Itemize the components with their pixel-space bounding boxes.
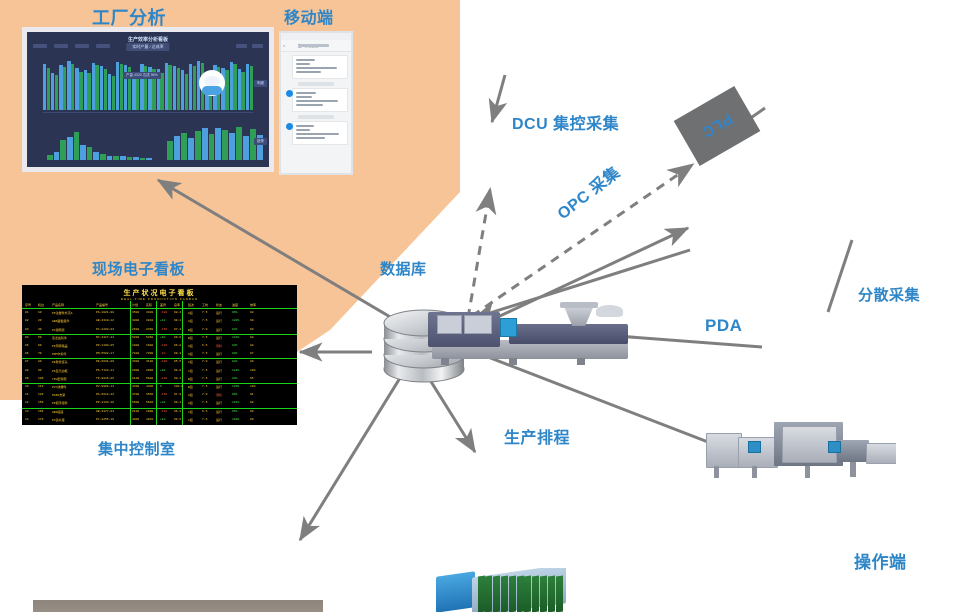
kanban-cell: 运行: [216, 377, 222, 381]
kanban-cell: 4800: [132, 418, 139, 421]
kanban-cell: 96.8: [174, 344, 181, 347]
kanban-header-cell: 机台: [38, 303, 44, 307]
kanban-cell: 12: [25, 401, 29, 404]
kanban-cell: 99: [250, 418, 254, 421]
kanban-cell: 11: [25, 393, 29, 396]
kanban-cell: 3120: [146, 360, 153, 363]
chart-bar: [108, 74, 111, 110]
chart-bar: [233, 64, 236, 110]
kanban-cell: 7.5: [202, 352, 207, 355]
kanban-cell: 7#: [38, 352, 42, 355]
badge-detail[interactable]: 明细: [254, 80, 267, 87]
kanban-grid-line: [22, 308, 297, 309]
dcu-device: [436, 568, 566, 612]
list-item[interactable]: [292, 55, 348, 79]
kanban-cell: 运行: [216, 401, 222, 405]
kanban-cell: 99%: [232, 352, 237, 355]
chart-bar: [215, 128, 221, 160]
chart-bar: [189, 64, 192, 110]
chart-bar: [181, 70, 184, 110]
kanban-cell: 94%: [232, 360, 237, 363]
kanban-cell: -120: [160, 344, 167, 347]
chart-bar: [100, 154, 106, 160]
kanban-cell: PS-7724-11: [96, 369, 114, 372]
kanban-cell: 7.0: [202, 328, 207, 331]
badge-trend[interactable]: 趋势: [254, 138, 267, 145]
label-central-control-room: 集中控制室: [98, 438, 176, 459]
kanban-cell: PA-1021-08: [96, 311, 114, 314]
kanban-cell: 运行: [216, 311, 222, 315]
avatar: [286, 123, 293, 130]
chart-bar: [112, 76, 115, 110]
kanban-cell: PC-2208-03: [96, 328, 114, 331]
dashboard-top-controls[interactable]: [33, 44, 110, 48]
chart-bar: [173, 66, 176, 110]
kanban-cell: PS显示边框: [52, 369, 68, 373]
chart-bar: [202, 128, 208, 160]
kanban-cell: NY-4417-21: [96, 336, 114, 339]
kanban-cell: 01: [25, 311, 29, 314]
kanban-cell: 12#: [38, 393, 43, 396]
mobile-header-title: 生产异常通知: [298, 43, 318, 48]
chart-bar: [165, 63, 168, 110]
chart-bar: [133, 157, 139, 160]
kanban-cell: +60: [160, 336, 165, 339]
kanban-cell: 17#: [38, 418, 43, 421]
label-distributed-collection: 分散采集: [858, 284, 920, 305]
kanban-cell: 96%: [232, 393, 237, 396]
chart-bar: [59, 65, 62, 110]
chart-bar: [92, 63, 95, 110]
chart-bar: [181, 133, 187, 160]
kanban-cell: PP-1190-05: [96, 344, 114, 347]
kanban-header-cell: 产品编号: [96, 303, 108, 307]
kanban-header-cell: 班次: [188, 303, 194, 307]
mobile-status-bar: [281, 33, 351, 40]
kanban-cell: 93%: [232, 344, 237, 347]
kanban-header-cell: 序号: [25, 303, 31, 307]
list-item[interactable]: [292, 121, 348, 145]
kanban-cell: 03: [25, 328, 29, 331]
chart-bar: [160, 73, 163, 110]
kanban-cell: 6100: [132, 377, 139, 380]
kanban-cell: +10: [160, 418, 165, 421]
kanban-cell: 100: [250, 369, 255, 372]
chart-bar: [174, 136, 180, 160]
dashboard-subtitle: 实时产量 / 达成率: [126, 43, 169, 51]
kanban-cell: -10: [160, 352, 165, 355]
kanban-header-cell: 良率: [174, 303, 180, 307]
kanban-header-cell: 计划: [132, 303, 138, 307]
kanban-cell: PA-6612-22: [96, 393, 114, 396]
avatar: [286, 90, 293, 97]
label-production-scheduling: 生产排程: [504, 424, 570, 448]
chart-bar: [167, 141, 173, 160]
kanban-cell: 100%: [232, 385, 239, 388]
chart-bar: [136, 74, 139, 110]
plc-label: PLC: [698, 110, 735, 141]
label-opc-collection: OPC 采集: [551, 159, 624, 224]
kanban-cell: 运行: [216, 319, 222, 323]
kanban-cell: PC镜片座: [52, 418, 65, 422]
kanban-cell: 7.0: [202, 360, 207, 363]
kanban-cell: 99: [250, 319, 254, 322]
injection-molding-machine-top: [424, 294, 636, 370]
kanban-cell: -150: [160, 393, 167, 396]
kanban-cell: 95.5: [174, 360, 181, 363]
kanban-cell: TP-8815-06: [96, 377, 114, 380]
chart-bar: [188, 138, 194, 160]
chart-bar: [80, 145, 86, 160]
kanban-cell: 7.5: [202, 311, 207, 314]
kanban-cell: 运行: [216, 418, 222, 422]
chart-bar: [127, 157, 133, 160]
kanban-cell: 99.4: [174, 401, 181, 404]
list-item[interactable]: [292, 88, 348, 112]
kanban-cell: 98: [250, 336, 254, 339]
kanban-cell: 9#: [38, 369, 42, 372]
kanban-cell: 05: [25, 344, 29, 347]
kanban-cell: C班: [188, 418, 193, 422]
kanban-cell: 100%: [232, 319, 239, 322]
kanban-header-cell: 差异: [160, 303, 166, 307]
chart-bar: [100, 66, 103, 110]
kanban-cell: 7390: [146, 352, 153, 355]
kanban-cell: +10: [160, 319, 165, 322]
dashboard-title: 生产效率分析看板: [128, 36, 168, 43]
chart-defect-reasons: [47, 124, 152, 160]
kanban-cell: 3550: [146, 393, 153, 396]
label-onsite-kanban: 现场电子看板: [92, 258, 185, 279]
arrow-db-to-control-room: [300, 378, 400, 540]
chart-axis-top: [43, 112, 253, 113]
label-database: 数据库: [380, 258, 427, 279]
chart-bar: [241, 72, 244, 110]
assembly-line-machine: [706, 416, 896, 478]
kanban-cell: 02: [25, 319, 29, 322]
kanban-grid-line: [130, 301, 131, 425]
kanban-cell: A班: [188, 311, 193, 315]
chart-bar: [67, 137, 73, 160]
kanban-cell: 94%: [232, 328, 237, 331]
kanban-cell: 运行: [216, 352, 222, 356]
kanban-cell: 6.5: [202, 410, 207, 413]
kanban-cell: 待料: [216, 344, 222, 348]
chart-bar: [47, 155, 53, 160]
chart-bar: [74, 132, 80, 160]
kanban-cell: 98: [250, 401, 254, 404]
kanban-cell: -120: [160, 377, 167, 380]
kanban-cell: 5980: [146, 377, 153, 380]
chart-bar: [107, 156, 113, 161]
chart-bar: [113, 156, 119, 160]
chart-bar: [51, 73, 54, 110]
kanban-header-cell: 实际: [146, 303, 152, 307]
kanban-cell: 100.0: [174, 385, 183, 388]
chart-bar: [243, 136, 249, 160]
label-pda: PDA: [705, 316, 742, 336]
mobile-client-panel[interactable]: < 生产异常通知: [279, 31, 353, 175]
dashboard-right-controls[interactable]: [236, 44, 263, 48]
kanban-cell: 4320: [146, 311, 153, 314]
chart-bar: [43, 64, 46, 110]
kanban-cell: 5600: [132, 401, 139, 404]
kanban-cell: -180: [160, 311, 167, 314]
kanban-cell: 5200: [132, 336, 139, 339]
kanban-cell: 99.5: [174, 418, 181, 421]
kanban-cell: PC透明罩: [52, 328, 65, 332]
chart-bar: [93, 152, 99, 160]
kanban-cell: 3700: [132, 393, 139, 396]
kanban-cell: A班: [188, 319, 193, 323]
kanban-cell: 97.4: [174, 328, 181, 331]
chart-bar: [84, 70, 87, 110]
onsite-kanban-board: 生产状况电子看板 REAL-TIME PRODUCTION KANBAN 序号机…: [22, 285, 297, 425]
kanban-cell: -180: [160, 360, 167, 363]
kanban-cell: 8#: [38, 360, 42, 363]
kanban-cell: 06: [25, 352, 29, 355]
kanban-cell: 7.5: [202, 336, 207, 339]
kanban-cell: 6#: [38, 344, 42, 347]
kanban-cell: TPU密封圈: [52, 377, 66, 381]
label-mobile-client: 移动端: [284, 4, 334, 28]
diagram-canvas: 生产效率分析看板 实时产量 / 达成率 产量 4320 达成 96% 明细 趋势…: [0, 0, 954, 612]
kanban-cell: A班: [188, 401, 193, 405]
kanban-cell: PC-2255-19: [96, 418, 114, 421]
kanban-cell: 100: [250, 385, 255, 388]
kanban-header-cell: 状态: [216, 303, 222, 307]
chart-bar: [146, 158, 152, 160]
kanban-cell: C班: [188, 410, 193, 414]
chart-bar: [168, 65, 171, 110]
kanban-cell: 运行: [216, 328, 222, 332]
kanban-cell: 2960: [146, 369, 153, 372]
kanban-cell: 04: [25, 336, 29, 339]
kanban-grid-line: [22, 358, 297, 359]
kanban-cell: 3300: [132, 360, 139, 363]
kanban-cell: 97.9: [174, 393, 181, 396]
kanban-cell: A班: [188, 393, 193, 397]
kanban-cell: 96%: [232, 311, 237, 314]
kanban-cell: ABS底座: [52, 410, 63, 414]
kanban-cell: +60: [160, 369, 165, 372]
kanban-cell: PVC线槽件: [52, 385, 66, 389]
kanban-cell: A班: [188, 352, 193, 356]
kanban-cell: 91: [250, 393, 254, 396]
label-dcu-collection: DCU 集控采集: [512, 110, 619, 134]
kanban-header-cell: 进度: [232, 303, 238, 307]
kanban-cell: B班: [188, 336, 193, 340]
chart-bar: [195, 131, 201, 160]
chart-bar: [54, 152, 60, 160]
mobile-separator: [298, 82, 334, 86]
kanban-cell: 4400: [132, 385, 139, 388]
kanban-cell: 调机: [216, 393, 222, 397]
kanban-cell: 运行: [216, 369, 222, 373]
kanban-cell: 3#: [38, 328, 42, 331]
kanban-cell: 7400: [132, 352, 139, 355]
mascot-icon: [199, 70, 225, 96]
chart-bar: [236, 127, 242, 160]
kanban-cell: 88: [250, 344, 254, 347]
kanban-cell: 99.0: [174, 369, 181, 372]
chart-bar: [60, 140, 66, 160]
kanban-cell: PP把手组件: [52, 401, 68, 405]
kanban-header-cell: 产品名称: [52, 303, 64, 307]
kanban-cell: 99.3: [174, 352, 181, 355]
kanban-cell: PE软管接头: [52, 360, 68, 364]
plc-box: PLC: [674, 86, 761, 166]
kanban-cell: 5640: [146, 401, 153, 404]
kanban-cell: 101%: [232, 401, 239, 404]
kanban-cell: POM卡扣件: [52, 352, 66, 356]
kanban-cell: 102%: [232, 369, 239, 372]
chart-bar: [120, 156, 126, 160]
chart-bar: [116, 62, 119, 110]
kanban-cell: PA66支架: [52, 393, 65, 397]
kanban-cell: 100%: [232, 418, 239, 421]
kanban-cell: 2450: [146, 328, 153, 331]
kanban-cell: B班: [188, 377, 193, 381]
kanban-cell: +40: [160, 401, 165, 404]
kanban-cell: 2900: [132, 369, 139, 372]
kanban-grid-line: [22, 408, 297, 409]
chart-bar: [63, 67, 66, 110]
kanban-cell: 5260: [146, 336, 153, 339]
kanban-cell: 90: [250, 328, 254, 331]
label-factory-analysis: 工厂分析: [92, 4, 166, 30]
arrow-machine-to-dcu: [492, 75, 505, 122]
kanban-cell: PP注塑件外壳A: [52, 311, 72, 315]
chart-bar: [79, 72, 82, 110]
kanban-cell: B班: [188, 328, 193, 332]
kanban-cell: 0: [160, 385, 162, 388]
kanban-cell: 92: [250, 311, 254, 314]
kanban-cell: 10#: [38, 377, 43, 380]
kanban-cell: PM-5502-17: [96, 352, 114, 355]
kanban-cell: 14: [25, 418, 29, 421]
kanban-cell: 95: [250, 377, 254, 380]
kanban-cell: 7.0: [202, 393, 207, 396]
chart-bar: [209, 134, 215, 160]
chart-bar: [87, 73, 90, 110]
chart-bar: [185, 74, 188, 110]
kanban-cell: 尼龙齿轮件: [52, 336, 67, 340]
kanban-cell: 7.5: [202, 385, 207, 388]
mobile-message-list[interactable]: [281, 52, 351, 175]
kanban-cell: 7.5: [202, 418, 207, 421]
kanban-cell: 97: [250, 352, 254, 355]
kanban-cell: ABS面板组件: [52, 319, 69, 323]
kanban-cell: A班: [188, 344, 193, 348]
kanban-cell: 99.6: [174, 336, 181, 339]
chart-bar: [222, 130, 228, 160]
kanban-cell: 2600: [132, 328, 139, 331]
kanban-cell: 08: [25, 369, 29, 372]
kanban-cell: 运行: [216, 360, 222, 364]
kanban-header-cell: 工时: [202, 303, 208, 307]
kanban-cell: 2#: [38, 319, 42, 322]
kanban-cell: PV-9906-14: [96, 385, 114, 388]
kanban-cell: 3810: [146, 319, 153, 322]
kanban-cell: 09: [25, 377, 29, 380]
kanban-cell: 运行: [216, 410, 222, 414]
chart-tooltip: 产量 4320 达成 96%: [123, 72, 161, 79]
kanban-cell: AB-3310-12: [96, 319, 114, 322]
kanban-cell: 101%: [232, 336, 239, 339]
kanban-cell: 98.2: [174, 311, 181, 314]
kanban-cell: PP-1133-18: [96, 401, 114, 404]
chart-bar: [229, 133, 235, 160]
kanban-cell: 15#: [38, 401, 43, 404]
chart-bar: [238, 69, 241, 110]
kanban-cell: -110: [160, 410, 167, 413]
kanban-cell: 4500: [132, 311, 139, 314]
kanban-cell: 90: [250, 410, 254, 413]
chart-bar: [230, 62, 233, 110]
kanban-cell: 96.2: [174, 410, 181, 413]
kanban-cell: 7.5: [202, 369, 207, 372]
kanban-cell: PE-6631-09: [96, 360, 114, 363]
kanban-cell: 16#: [38, 410, 43, 413]
chart-bar: [55, 75, 58, 110]
kanban-grid-line: [156, 301, 157, 425]
kanban-grid-line: [22, 383, 297, 384]
mobile-header: < 生产异常通知: [281, 40, 351, 52]
chart-bar: [177, 68, 180, 110]
kanban-cell: 11#: [38, 385, 43, 388]
chart-bar: [75, 68, 78, 110]
line-machine-to-tablet: [828, 240, 852, 312]
chart-bar: [246, 64, 249, 110]
kanban-cell: 1990: [146, 410, 153, 413]
kanban-cell: 4810: [146, 418, 153, 421]
kanban-cell: C班: [188, 360, 193, 364]
chart-bar: [104, 69, 107, 110]
kanban-cell: AB-3377-04: [96, 410, 114, 413]
kanban-cell: 7.5: [202, 319, 207, 322]
kanban-cell: 1680: [146, 344, 153, 347]
kanban-cell: PP周转箱盖: [52, 344, 68, 348]
chart-bar: [95, 65, 98, 110]
kanban-cell: 7.5: [202, 401, 207, 404]
kanban-cell: 运行: [216, 336, 222, 340]
kanban-cell: -150: [160, 328, 167, 331]
kanban-cell: C班: [188, 369, 193, 373]
kanban-cell: 4400: [146, 385, 153, 388]
chart-shift-achievement: [167, 124, 263, 160]
factory-analysis-dashboard[interactable]: 生产效率分析看板 实时产量 / 达成率 产量 4320 达成 96% 明细 趋势: [22, 27, 274, 172]
kanban-cell: 3800: [132, 319, 139, 322]
kanban-cell: 6.5: [202, 344, 207, 347]
chart-bar: [87, 147, 93, 160]
kanban-cell: 7.5: [202, 377, 207, 380]
kanban-cell: 07: [25, 360, 29, 363]
kanban-cell: 98%: [232, 377, 237, 380]
chart-bar: [250, 66, 253, 110]
kanban-grid-line: [182, 301, 183, 425]
central-control-room-photo: [33, 600, 323, 612]
kanban-cell: 2100: [132, 410, 139, 413]
kanban-cell: 13: [25, 410, 29, 413]
mobile-separator: [298, 115, 334, 119]
kanban-cell: 10: [25, 385, 29, 388]
kanban-header-cell: 效率: [250, 303, 256, 307]
kanban-cell: 99.1: [174, 319, 181, 322]
kanban-cell: 98.1: [174, 377, 181, 380]
kanban-cell: 运行: [216, 385, 222, 389]
chart-bar: [67, 61, 70, 110]
